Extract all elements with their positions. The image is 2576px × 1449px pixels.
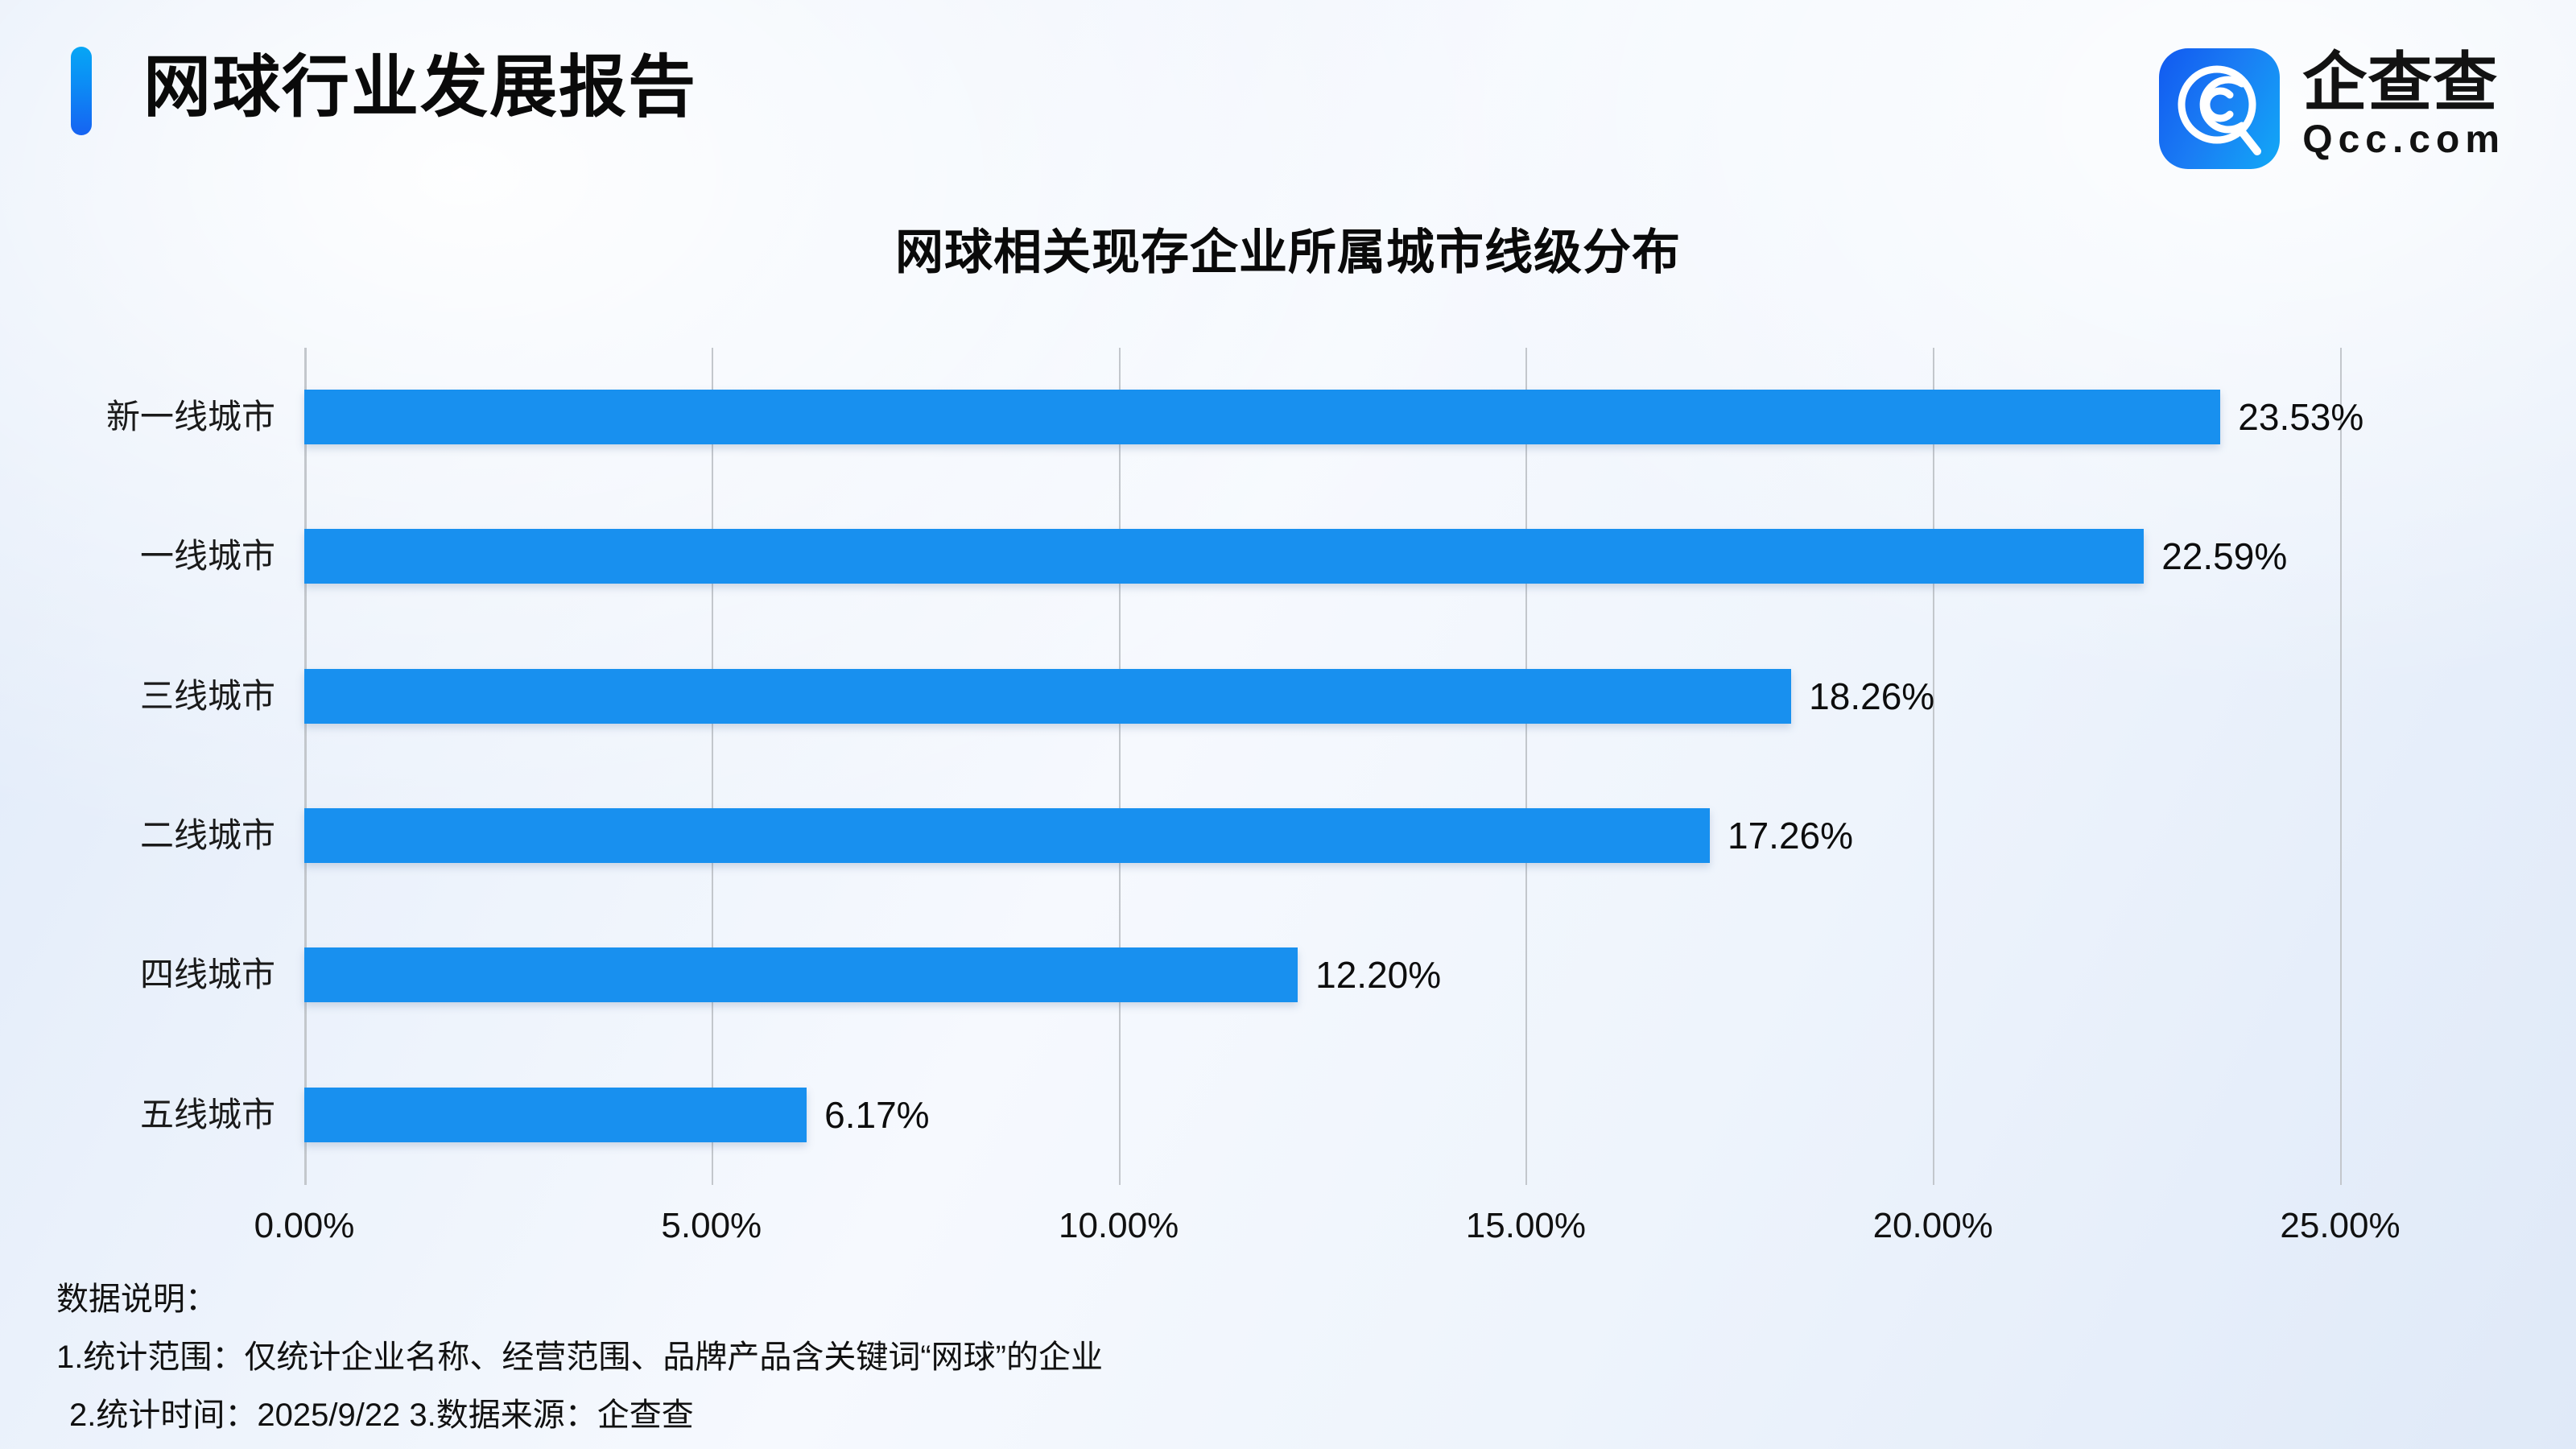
footnote-time-source: 2.统计时间：2025/9/22 3.数据来源：企查查: [56, 1386, 2149, 1444]
x-axis-tick-label: 10.00%: [1059, 1206, 1179, 1246]
chart-title: 网球相关现存企业所属城市线级分布: [0, 213, 2576, 283]
title-accent-bar: [71, 47, 92, 135]
bar-row: 三线城市18.26%: [304, 627, 2340, 766]
category-label: 三线城市: [140, 669, 275, 724]
bar[interactable]: [304, 1088, 807, 1142]
bar-value-label: 18.26%: [1791, 669, 1934, 724]
x-axis-tick-label: 20.00%: [1873, 1206, 1993, 1246]
bar-value-label: 22.59%: [2144, 529, 2287, 584]
category-label: 一线城市: [140, 529, 275, 584]
brand-name-en: Qcc.com: [2302, 118, 2505, 163]
qcc-logo-icon: [2159, 48, 2280, 169]
brand-name-cn: 企查查: [2302, 48, 2505, 118]
bar-value-label: 17.26%: [1710, 808, 1853, 863]
x-axis-tick-label: 25.00%: [2280, 1206, 2400, 1246]
bar[interactable]: [304, 808, 1710, 863]
x-axis-tick-label: 15.00%: [1466, 1206, 1586, 1246]
category-label: 二线城市: [140, 808, 275, 863]
bar-value-label: 12.20%: [1298, 947, 1441, 1002]
bar-value-label: 23.53%: [2220, 390, 2363, 444]
footnote-heading: 数据说明：: [56, 1270, 2149, 1328]
page-title: 网球行业发展报告: [143, 39, 697, 135]
category-label: 五线城市: [140, 1088, 275, 1142]
bar-row: 四线城市12.20%: [304, 906, 2340, 1045]
footnote-scope: 1.统计范围：仅统计企业名称、经营范围、品牌产品含关键词“网球”的企业: [56, 1328, 2149, 1386]
bar-chart-plot: 新一线城市23.53%一线城市22.59%三线城市18.26%二线城市17.26…: [304, 348, 2340, 1185]
bar-row: 五线城市6.17%: [304, 1046, 2340, 1185]
bar-row: 二线城市17.26%: [304, 766, 2340, 906]
bar[interactable]: [304, 390, 2220, 444]
bar-row: 一线城市22.59%: [304, 487, 2340, 626]
bar[interactable]: [304, 947, 1298, 1002]
report-page: 网球行业发展报告 企查查 Qcc.com 网球相关现存企业所属城市线级分布 新一…: [0, 0, 2576, 1449]
bar-value-label: 6.17%: [807, 1088, 929, 1142]
brand-logo: 企查查 Qcc.com: [2159, 48, 2505, 169]
bar-row: 新一线城市23.53%: [304, 348, 2340, 487]
bar[interactable]: [304, 669, 1791, 724]
category-label: 四线城市: [140, 947, 275, 1002]
x-axis-tick-label: 0.00%: [254, 1206, 355, 1246]
x-axis-tick-label: 5.00%: [661, 1206, 762, 1246]
footnotes: 数据说明： 1.统计范围：仅统计企业名称、经营范围、品牌产品含关键词“网球”的企…: [56, 1270, 2149, 1444]
gridline: [2340, 348, 2342, 1185]
category-label: 新一线城市: [106, 390, 275, 444]
bar[interactable]: [304, 529, 2144, 584]
